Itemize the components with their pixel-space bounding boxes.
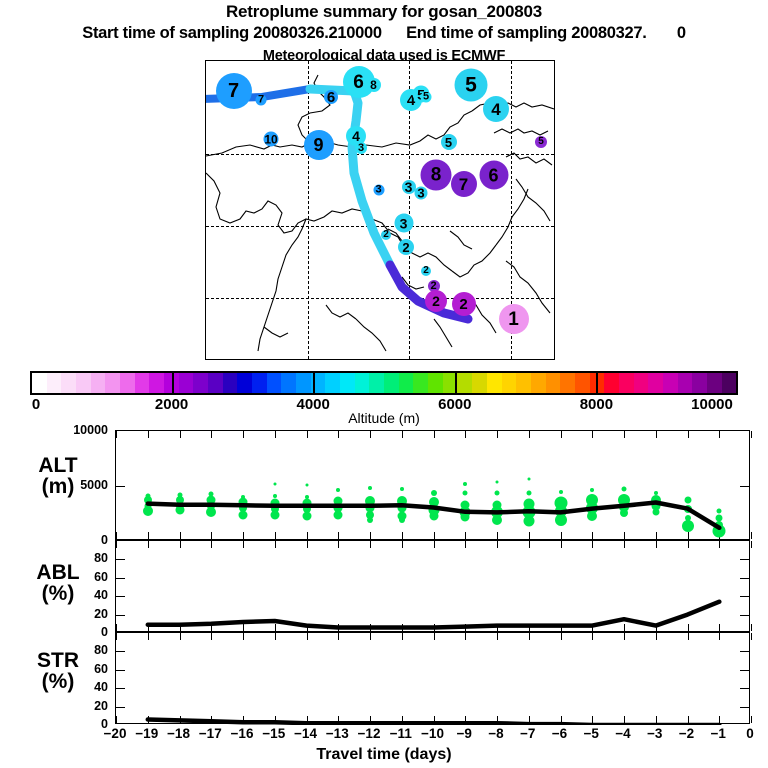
abl-y-axis: 020406080 — [0, 540, 112, 632]
colorbar-separator — [172, 371, 174, 395]
colorbar-swatch — [413, 373, 428, 393]
altitude-mean-path — [148, 503, 720, 528]
x-tickmark — [751, 633, 752, 640]
retroplume-trajectory-map: 7710966843455545587633332222221 — [205, 60, 555, 360]
y-tickmark — [116, 688, 125, 689]
colorbar-swatch — [105, 373, 120, 393]
altitude-colorbar — [30, 371, 738, 395]
colorbar-swatch — [560, 373, 575, 393]
x-tick-label: −7 — [520, 726, 535, 741]
day-marker: 3 — [402, 180, 416, 194]
y-tickmark — [740, 615, 749, 616]
colorbar-swatch — [252, 373, 267, 393]
day-marker: 6 — [479, 161, 508, 190]
x-tickmark — [751, 532, 752, 539]
colorbar-swatch — [340, 373, 355, 393]
day-marker: 1 — [499, 304, 529, 334]
y-tick-label: 5000 — [80, 478, 108, 492]
abl-fraction-path — [148, 602, 720, 628]
colorbar-swatch — [281, 373, 296, 393]
day-marker: 5 — [421, 92, 432, 103]
y-tickmark — [116, 707, 125, 708]
colorbar-title: Altitude (m) — [0, 410, 768, 426]
colorbar-swatch — [32, 373, 47, 393]
day-marker: 8 — [421, 160, 452, 191]
start-time-label: Start time of sampling — [82, 24, 249, 42]
colorbar-swatch — [604, 373, 619, 393]
str-plot-panel — [115, 632, 750, 724]
colorbar-separator — [596, 371, 598, 395]
alt-y-axis: 0500010000 — [0, 430, 112, 540]
colorbar-swatch — [472, 373, 487, 393]
colorbar-swatch — [149, 373, 164, 393]
colorbar-swatch — [296, 373, 311, 393]
x-tick-label: −2 — [679, 726, 694, 741]
colorbar-swatch — [722, 373, 737, 393]
y-tickmark — [740, 670, 749, 671]
y-tick-label: 60 — [94, 662, 108, 676]
x-tickmark — [751, 541, 752, 548]
day-marker: 2 — [421, 266, 431, 276]
day-marker: 7 — [216, 73, 252, 109]
colorbar-swatch — [237, 373, 252, 393]
day-marker: 5 — [535, 136, 547, 148]
day-marker: 4 — [483, 96, 509, 122]
colorbar-swatch — [384, 373, 399, 393]
end-time-value-2: 0 — [677, 24, 686, 42]
y-tickmark — [116, 670, 125, 671]
day-marker: 8 — [367, 78, 381, 92]
end-time-value: 20080327. — [571, 24, 646, 42]
colorbar-swatch — [546, 373, 561, 393]
colorbar-gradient — [30, 371, 738, 395]
x-tickmark — [751, 624, 752, 631]
colorbar-swatch — [707, 373, 722, 393]
abl-line — [116, 541, 751, 633]
y-tick-label: 80 — [94, 643, 108, 657]
x-tick-label: −12 — [358, 726, 381, 741]
day-marker: 2 — [398, 239, 414, 255]
y-tickmark — [116, 578, 125, 579]
colorbar-swatch — [487, 373, 502, 393]
y-tickmark — [740, 651, 749, 652]
colorbar-swatch — [428, 373, 443, 393]
day-marker: 5 — [441, 134, 457, 150]
colorbar-swatch — [663, 373, 678, 393]
alt-mean-line — [116, 431, 751, 541]
x-tick-label: −1 — [711, 726, 726, 741]
x-tick-label: −10 — [421, 726, 444, 741]
x-tick-label: −17 — [199, 726, 222, 741]
x-tick-label: −15 — [262, 726, 285, 741]
y-tickmark — [740, 486, 749, 487]
y-tickmark — [116, 559, 125, 560]
day-marker: 2 — [425, 290, 447, 312]
colorbar-swatch — [135, 373, 150, 393]
colorbar-swatch — [76, 373, 91, 393]
colorbar-swatch — [193, 373, 208, 393]
colorbar-swatch — [355, 373, 370, 393]
colorbar-swatch — [678, 373, 693, 393]
colorbar-swatch — [516, 373, 531, 393]
colorbar-swatch — [208, 373, 223, 393]
alt-plot-panel — [115, 430, 750, 540]
y-tick-label: 20 — [94, 699, 108, 713]
x-tick-label: −8 — [488, 726, 503, 741]
colorbar-swatch — [399, 373, 414, 393]
day-marker: 7 — [451, 171, 477, 197]
day-marker: 10 — [264, 132, 279, 147]
x-tick-label: −6 — [552, 726, 567, 741]
day-marker: 2 — [452, 292, 476, 316]
colorbar-swatch — [619, 373, 634, 393]
colorbar-swatch — [61, 373, 76, 393]
x-tick-label: −19 — [135, 726, 158, 741]
y-tickmark — [740, 559, 749, 560]
y-tickmark — [740, 596, 749, 597]
y-tick-label: 80 — [94, 551, 108, 565]
colorbar-swatch — [692, 373, 707, 393]
start-time-value: 20080326.210000 — [253, 24, 382, 42]
colorbar-swatch — [502, 373, 517, 393]
colorbar-swatch — [91, 373, 106, 393]
colorbar-swatch — [120, 373, 135, 393]
colorbar-swatch — [223, 373, 238, 393]
day-marker: 7 — [256, 95, 267, 106]
str-y-axis: 020406080 — [0, 632, 112, 724]
x-tick-label: −3 — [647, 726, 662, 741]
x-axis-title: Travel time (days) — [0, 746, 768, 764]
x-tick-label: −4 — [615, 726, 630, 741]
y-tickmark — [116, 651, 125, 652]
day-marker: 3 — [355, 142, 367, 154]
x-axis-tick-labels: −20−19−18−17−16−15−14−13−12−11−10−9−8−7−… — [115, 726, 750, 742]
x-tick-label: −20 — [104, 726, 127, 741]
abl-plot-panel — [115, 540, 750, 632]
x-tickmark — [751, 716, 752, 723]
colorbar-swatch — [575, 373, 590, 393]
y-tickmark — [740, 688, 749, 689]
day-marker: 3 — [415, 187, 428, 200]
page-title: Retroplume summary for gosan_200803 — [0, 2, 768, 22]
x-tick-label: −16 — [231, 726, 254, 741]
y-tick-label: 10000 — [73, 423, 108, 437]
sampling-time-line: Start time of sampling 20080326.210000 E… — [0, 24, 768, 43]
y-tick-label: 40 — [94, 588, 108, 602]
x-tick-label: −5 — [584, 726, 599, 741]
x-tick-label: −14 — [294, 726, 317, 741]
colorbar-swatch — [457, 373, 472, 393]
y-tickmark — [116, 615, 125, 616]
x-tick-label: 0 — [746, 726, 754, 741]
end-time-label: End time of sampling — [406, 24, 567, 42]
colorbar-swatch — [47, 373, 62, 393]
x-tick-label: −18 — [167, 726, 190, 741]
y-tick-label: 40 — [94, 680, 108, 694]
colorbar-separator — [455, 371, 457, 395]
y-tick-label: 60 — [94, 570, 108, 584]
str-fraction-path — [148, 720, 720, 726]
colorbar-swatch — [179, 373, 194, 393]
colorbar-swatch — [267, 373, 282, 393]
retroplume-summary-figure: Retroplume summary for gosan_200803 Star… — [0, 0, 768, 768]
colorbar-swatch — [369, 373, 384, 393]
colorbar-swatch — [531, 373, 546, 393]
day-marker: 3 — [373, 185, 384, 196]
y-tickmark — [740, 707, 749, 708]
day-marker: 6 — [324, 90, 338, 104]
y-tickmark — [116, 486, 125, 487]
colorbar-separator — [313, 371, 315, 395]
colorbar-swatch — [325, 373, 340, 393]
y-tick-label: 20 — [94, 607, 108, 621]
colorbar-swatch — [634, 373, 649, 393]
x-tickmark — [751, 431, 752, 438]
day-marker: 9 — [304, 130, 334, 160]
x-tick-label: −9 — [457, 726, 472, 741]
y-tickmark — [740, 578, 749, 579]
x-tick-label: −13 — [326, 726, 349, 741]
colorbar-swatch — [648, 373, 663, 393]
day-marker: 3 — [394, 214, 413, 233]
x-tick-label: −11 — [390, 726, 412, 741]
day-marker-layer: 7710966843455545587633332222221 — [206, 61, 554, 359]
str-line — [116, 633, 751, 725]
day-marker: 5 — [455, 69, 488, 102]
day-marker: 2 — [381, 230, 391, 240]
y-tickmark — [116, 596, 125, 597]
